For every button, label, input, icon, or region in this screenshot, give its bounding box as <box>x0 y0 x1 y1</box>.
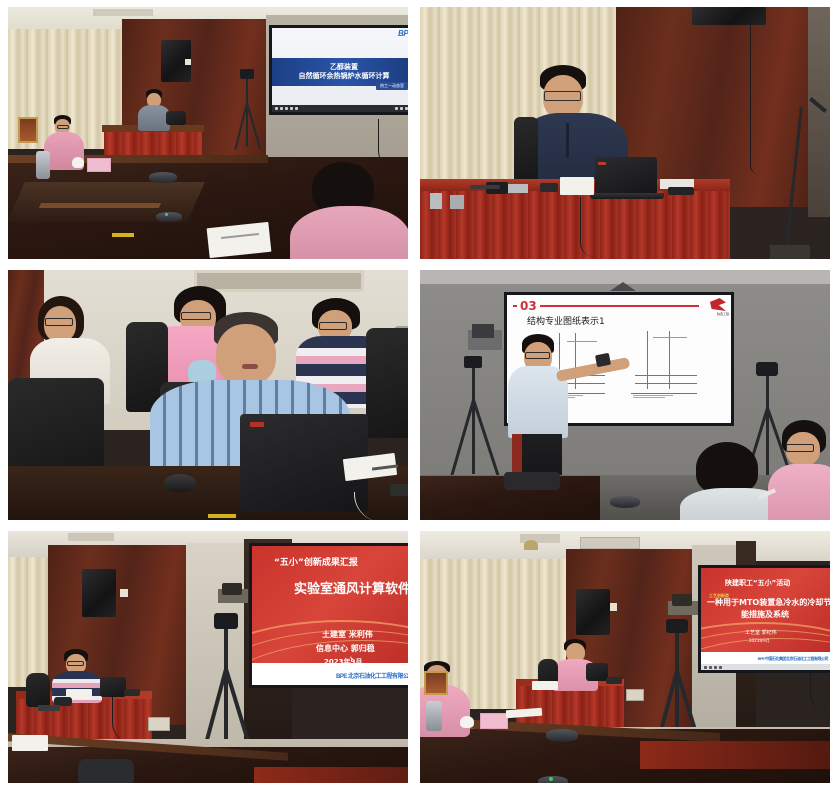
slide-section-number: 03 <box>517 299 540 314</box>
laptop[interactable] <box>586 663 608 681</box>
slide-surface: BPE 乙醇装置 自然循环余热锅炉水循环计算 热工—动态室 <box>272 28 408 112</box>
company-logo-icon <box>710 298 726 311</box>
photo-middle-right[interactable]: 03 结构专业图纸表示1 陕西工程 <box>420 270 830 520</box>
status-led <box>165 213 168 216</box>
photo-collage: BPE 乙醇装置 自然循环余热锅炉水循环计算 热工—动态室 <box>0 0 830 790</box>
photo-5-scene: “五小”创新成果汇报 实验室通风计算软件 土建室 米利伟 信息中心 郭归稳 20… <box>8 531 408 783</box>
red-table-skirt <box>420 187 730 259</box>
table-marker <box>112 233 134 237</box>
tripod-leg <box>246 103 261 150</box>
shelf-camera <box>222 583 242 595</box>
side-wall <box>808 7 830 217</box>
glasses-icon <box>525 352 550 359</box>
slide-rule <box>513 305 699 307</box>
equipment-case <box>504 472 560 490</box>
wall-switch <box>120 589 128 597</box>
tripod-leg <box>246 103 248 147</box>
conference-speakerphone[interactable] <box>156 212 182 222</box>
camera-icon <box>756 362 778 376</box>
slide-brand: BPE 北京石油化工工程有限公司 <box>336 671 408 680</box>
framed-picture <box>424 671 448 695</box>
torso <box>290 206 408 259</box>
glasses-icon <box>67 661 84 666</box>
ceiling-speaker <box>576 589 610 635</box>
tripod-leg <box>472 400 500 477</box>
wall-display[interactable]: “五小”创新成果汇报 实验室通风计算软件 土建室 米利伟 信息中心 郭归稳 20… <box>249 543 408 688</box>
laptop[interactable] <box>166 111 186 125</box>
camera-icon <box>240 69 254 79</box>
office-chair <box>26 673 50 707</box>
photo-1-scene: BPE 乙醇装置 自然循环余热锅炉水循环计算 热工—动态室 <box>8 7 408 259</box>
photo-bottom-right[interactable]: 陕建职工“五小”活动 工艺创新类 一种用于MTO装置急冷水的冷却节 能措施及系统… <box>420 531 830 783</box>
photo-middle-left[interactable]: Audience close-up: a man in a blue check… <box>8 270 408 520</box>
notebook <box>390 484 408 496</box>
glasses-icon <box>57 125 69 129</box>
photo-2-scene <box>420 7 830 259</box>
tripod-column <box>246 79 248 105</box>
standing-presenter <box>508 334 638 474</box>
taskbar-icon <box>295 107 298 110</box>
ceiling-vent <box>580 537 640 549</box>
conference-mic[interactable] <box>610 496 640 508</box>
slide-title-line-1: 一种用于MTO装置急冷水的冷却节 <box>707 598 830 608</box>
mobile-phone[interactable] <box>540 183 558 192</box>
glasses-icon <box>45 318 73 326</box>
taskbar-icon <box>400 107 403 110</box>
head <box>216 324 276 386</box>
table-red-reflection <box>254 767 408 783</box>
slide-date: 2023年9月 <box>749 638 770 643</box>
slide-eyebrow: 陕建职工“五小”活动 <box>725 579 790 588</box>
mouse[interactable] <box>164 474 196 492</box>
taskbar-icon <box>719 666 722 669</box>
name-card <box>87 158 111 172</box>
laptop[interactable] <box>100 677 126 697</box>
slide-author-1: 土建室 米利伟 <box>322 630 373 640</box>
status-led <box>549 777 553 781</box>
office-chair <box>366 328 408 438</box>
camera-icon <box>666 619 688 633</box>
badge <box>430 193 442 209</box>
card-holder <box>508 184 528 193</box>
torso <box>768 464 830 520</box>
slide-surface: “五小”创新成果汇报 实验室通风计算软件 土建室 米利伟 信息中心 郭归稳 20… <box>252 546 408 685</box>
floor-box <box>770 245 810 259</box>
taskbar-icon <box>405 107 408 110</box>
taskbar-icon <box>275 107 278 110</box>
notebook <box>560 177 594 195</box>
mobile-phone[interactable] <box>124 689 140 696</box>
framed-picture <box>18 117 38 143</box>
power-outlet <box>148 717 170 731</box>
photo-top-right[interactable]: Close-up of a man with glasses in a dark… <box>420 7 830 259</box>
equipment-case <box>78 759 134 783</box>
teacup <box>72 157 84 168</box>
pen <box>470 185 500 189</box>
tripod-column <box>766 376 769 410</box>
display-taskbar[interactable] <box>272 105 408 112</box>
slide-brand: BPE 中国石化集团北京石油化工工程有限公司 <box>758 656 828 662</box>
photo-top-left[interactable]: BPE 乙醇装置 自然循环余热锅炉水循环计算 热工—动态室 <box>8 7 408 259</box>
conference-mic[interactable] <box>546 729 578 742</box>
paper <box>532 681 558 690</box>
mobile-phone[interactable] <box>668 187 694 195</box>
polo-placket <box>566 123 569 157</box>
mouth <box>242 364 258 369</box>
photo-3-scene <box>8 270 408 520</box>
tripod-column <box>224 629 228 671</box>
company-logo-text: 陕西工程 <box>717 312 729 316</box>
taskbar-icon <box>709 666 712 669</box>
power-outlet <box>626 689 644 701</box>
wall-switch <box>610 603 617 611</box>
shelf-camera <box>472 324 494 338</box>
shorts-stripe <box>512 434 522 474</box>
drawing-right <box>629 329 709 401</box>
camera-icon <box>464 356 482 368</box>
ceiling-speaker <box>692 7 766 25</box>
camera-tripod <box>230 69 270 149</box>
taskbar-icon <box>714 666 717 669</box>
tripod-column <box>675 633 679 673</box>
tripod-leg <box>472 400 475 474</box>
notebook <box>12 735 48 751</box>
laptop-logo <box>250 422 264 427</box>
thermos <box>426 701 442 731</box>
slide-title: 实验室通风计算软件 <box>294 582 408 598</box>
photo-6-scene: 陕建职工“五小”活动 工艺创新类 一种用于MTO装置急冷水的冷却节 能措施及系统… <box>420 531 830 783</box>
camera-tripod <box>194 613 264 753</box>
speaker-cable <box>750 25 760 175</box>
mobile-phone[interactable] <box>606 677 622 684</box>
slide-surface: 陕建职工“五小”活动 工艺创新类 一种用于MTO装置急冷水的冷却节 能措施及系统… <box>701 568 830 670</box>
badge <box>450 195 464 209</box>
photo-4-scene: 03 结构专业图纸表示1 陕西工程 <box>420 270 830 520</box>
taskbar-icon <box>395 107 398 110</box>
wall-display[interactable]: 陕建职工“五小”活动 工艺创新类 一种用于MTO装置急冷水的冷却节 能措施及系统… <box>698 565 830 673</box>
wall-display[interactable]: BPE 乙醇装置 自然循环余热锅炉水循环计算 热工—动态室 <box>269 25 408 115</box>
photo-bottom-left[interactable]: “五小”创新成果汇报 实验室通风计算软件 土建室 米利伟 信息中心 郭归稳 20… <box>8 531 408 783</box>
display-cable <box>378 119 396 169</box>
laptop-logo <box>598 162 606 165</box>
wall-switch <box>185 59 191 65</box>
ceiling <box>420 270 830 284</box>
pointing-arm <box>556 357 631 382</box>
slide-eyebrow: “五小”创新成果汇报 <box>274 558 358 569</box>
display-taskbar[interactable] <box>701 664 830 670</box>
desk-item <box>38 705 60 711</box>
slide-subtitle: 热工—动态室 <box>376 82 408 90</box>
conference-speakerphone[interactable] <box>538 776 568 783</box>
tripod-column <box>472 368 475 402</box>
ceiling-vent <box>68 533 114 541</box>
teacup <box>460 716 474 728</box>
bpe-logo: BPE <box>398 29 408 38</box>
display-cable <box>810 671 826 711</box>
attendee-foreground <box>294 162 404 259</box>
attendee-foreground-right <box>772 420 830 520</box>
office-chair <box>514 117 538 187</box>
slide-title-line-2: 自然循环余热锅炉水循环计算 <box>299 72 390 81</box>
camera-icon <box>214 613 238 629</box>
slide-author: 工艺室 郭纪伟 <box>745 630 777 636</box>
slide-title-line-2: 能措施及系统 <box>741 610 789 620</box>
taskbar-icon <box>290 107 293 110</box>
laptop-base <box>590 193 664 199</box>
slide-author-2: 信息中心 郭归稳 <box>316 644 375 654</box>
thermos <box>36 151 50 179</box>
laptop-cable <box>580 197 594 257</box>
camera-tripod-left <box>452 356 502 476</box>
table-red-reflection <box>640 741 830 769</box>
taskbar-icon <box>285 107 288 110</box>
glasses-icon <box>544 91 581 101</box>
taskbar-icon <box>280 107 283 110</box>
hair <box>696 442 758 494</box>
slide-content-description: 结构施工图/基础详图 <box>507 295 508 296</box>
ceiling-speaker <box>82 569 116 617</box>
ceiling-vent <box>93 9 153 16</box>
slide-title: 结构专业图纸表示1 <box>527 317 605 328</box>
slide-title-line-1: 乙醇装置 <box>330 63 358 72</box>
glasses-icon <box>786 444 814 452</box>
table-inlay <box>39 203 161 208</box>
shelf-camera <box>672 594 692 606</box>
name-card <box>480 713 508 729</box>
conference-mic[interactable] <box>149 172 177 183</box>
table-marker <box>208 514 236 518</box>
ceiling-light <box>524 540 538 550</box>
